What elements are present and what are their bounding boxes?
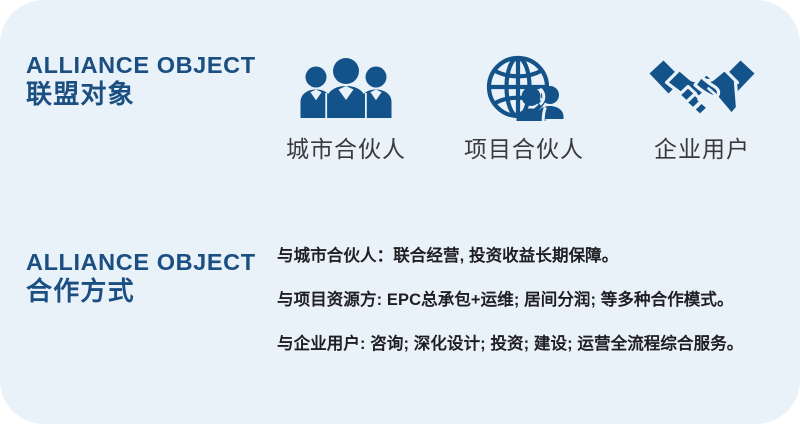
cooperation-mode-heading-en: ALLIANCE OBJECT	[26, 249, 256, 275]
cooperation-line-prefix: 与企业用户:	[277, 335, 366, 353]
alliance-item-project-partner[interactable]: 项目合伙人	[440, 55, 608, 164]
alliance-item-enterprise-user[interactable]: 企业用户	[618, 55, 786, 164]
alliance-item-label: 企业用户	[654, 130, 750, 164]
cooperation-line-rest: ：联合经营, 投资收益长期保障。	[377, 247, 619, 265]
cooperation-mode-line: 与项目资源方: EPC总承包+运维; 居间分润; 等多种合作模式。	[277, 290, 787, 311]
cooperation-line-prefix: 与项目资源方:	[277, 291, 382, 309]
cooperation-mode-heading-cn: 合作方式	[26, 276, 256, 307]
handshake-icon	[646, 55, 758, 121]
alliance-object-items: 城市合伙人	[262, 55, 786, 164]
alliance-info-panel: ALLIANCE OBJECT 联盟对象	[0, 0, 800, 424]
cooperation-line-prefix: 与城市合伙人	[277, 247, 377, 265]
alliance-item-label: 项目合伙人	[464, 130, 584, 164]
alliance-object-heading-cn: 联盟对象	[26, 79, 256, 110]
alliance-item-label: 城市合伙人	[286, 130, 406, 164]
alliance-object-heading-en: ALLIANCE OBJECT	[26, 52, 256, 78]
cooperation-mode-lines: 与城市合伙人：联合经营, 投资收益长期保障。 与项目资源方: EPC总承包+运维…	[277, 246, 787, 355]
alliance-item-city-partner[interactable]: 城市合伙人	[262, 55, 430, 164]
cooperation-mode-line: 与企业用户: 咨询; 深化设计; 投资; 建设; 运营全流程综合服务。	[277, 334, 787, 355]
group-of-people-icon	[294, 55, 398, 121]
globe-with-people-icon	[476, 55, 572, 121]
alliance-object-heading: ALLIANCE OBJECT 联盟对象	[26, 52, 256, 110]
cooperation-mode-line: 与城市合伙人：联合经营, 投资收益长期保障。	[277, 246, 787, 267]
cooperation-line-rest: 咨询; 深化设计; 投资; 建设; 运营全流程综合服务。	[366, 335, 744, 353]
cooperation-mode-heading: ALLIANCE OBJECT 合作方式	[26, 249, 256, 307]
cooperation-line-rest: EPC总承包+运维; 居间分润; 等多种合作模式。	[382, 291, 733, 309]
